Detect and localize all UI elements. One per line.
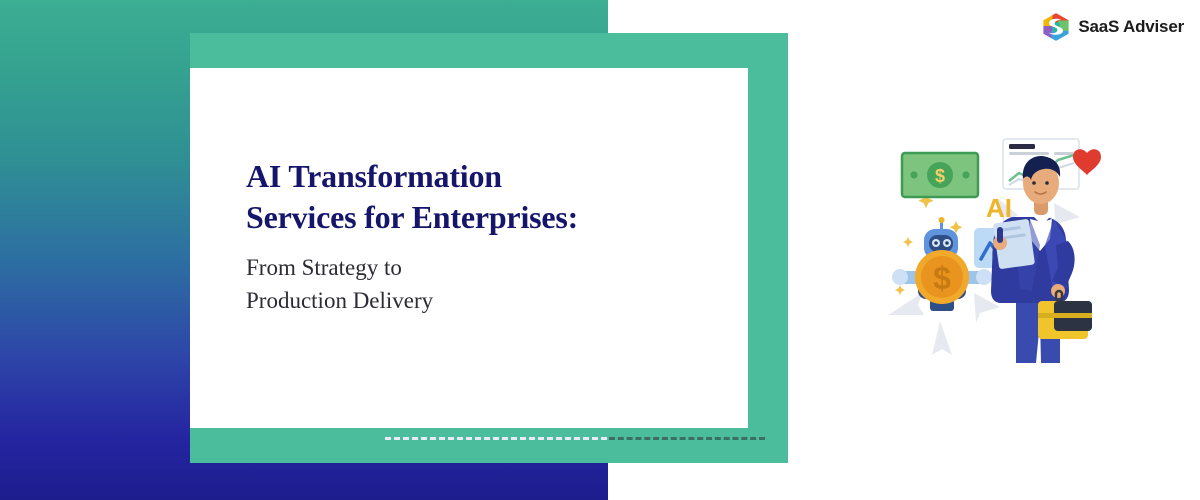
svg-text:$: $	[935, 166, 945, 186]
hexagon-s-logo-icon	[1042, 12, 1070, 42]
dashed-rule-dark	[609, 437, 765, 440]
subhead-line-1: From Strategy to	[246, 252, 726, 285]
brand-logo[interactable]: SaaS Adviser	[1042, 12, 1184, 42]
hero-text-group: AI Transformation Services for Enterpris…	[246, 156, 726, 317]
brand-name: SaaS Adviser	[1078, 17, 1184, 37]
headline-line-1: AI Transformation	[246, 156, 726, 197]
teal-accent-block-top	[190, 33, 788, 69]
page-subtitle: From Strategy to Production Delivery	[246, 252, 726, 317]
dashed-rule-light	[385, 437, 607, 440]
ai-text-label: AI	[986, 193, 1012, 223]
content-card: AI Transformation Services for Enterpris…	[190, 68, 748, 428]
headline-line-2: Services for Enterprises:	[246, 197, 726, 238]
page-title: AI Transformation Services for Enterpris…	[246, 156, 726, 238]
svg-text:$: $	[933, 260, 951, 296]
subhead-line-2: Production Delivery	[246, 285, 726, 318]
ai-business-transformation-illustration: $ AI	[878, 125, 1118, 375]
teal-accent-block-bottom	[190, 428, 788, 463]
dollar-bill-icon: $	[902, 153, 978, 197]
promo-banner: AI Transformation Services for Enterpris…	[0, 0, 1200, 500]
